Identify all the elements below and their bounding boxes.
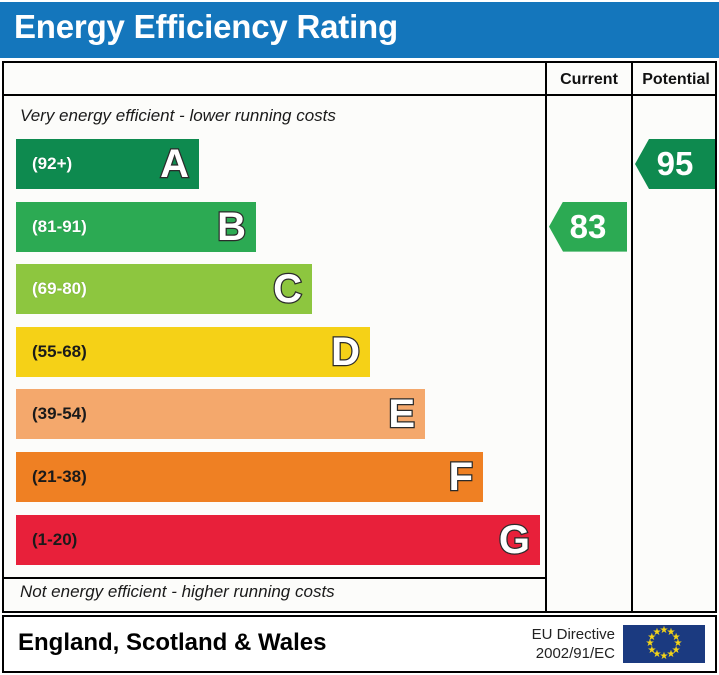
band-range-c: (69-80)	[32, 279, 87, 299]
band-bars-container: (92+)A(81-91)B(69-80)C(55-68)D(39-54)E(2…	[4, 63, 545, 611]
potential-rating-badge: 95	[635, 139, 715, 189]
column-divider-current	[545, 63, 547, 611]
eu-flag-icon: ★★★★★★★★★★★★	[623, 625, 705, 663]
column-divider-potential	[631, 63, 633, 611]
band-range-e: (39-54)	[32, 404, 87, 424]
band-range-b: (81-91)	[32, 217, 87, 237]
band-bar-d: (55-68)D	[16, 327, 370, 377]
footer-region-label: England, Scotland & Wales	[18, 629, 326, 657]
band-letter-c: C	[273, 269, 302, 309]
band-letter-f: F	[449, 457, 473, 497]
band-range-f: (21-38)	[32, 467, 87, 487]
band-range-a: (92+)	[32, 154, 72, 174]
band-letter-a: A	[160, 144, 189, 184]
band-bar-a: (92+)A	[16, 139, 199, 189]
rating-table: Current Potential Very energy efficient …	[2, 61, 717, 613]
eu-flag-star: ★	[652, 628, 662, 638]
band-letter-d: D	[331, 332, 360, 372]
footer-bar: England, Scotland & Wales EU Directive 2…	[2, 615, 717, 673]
band-range-d: (55-68)	[32, 342, 87, 362]
chart-header-bar: Energy Efficiency Rating	[0, 2, 719, 58]
current-rating-badge: 83	[549, 202, 627, 252]
column-header-current: Current	[547, 69, 631, 91]
column-header-potential: Potential	[633, 69, 719, 91]
eu-directive-line1: EU Directive	[465, 625, 615, 644]
band-bar-f: (21-38)F	[16, 452, 483, 502]
band-letter-e: E	[388, 394, 415, 434]
eu-directive-line2: 2002/91/EC	[465, 644, 615, 663]
energy-efficiency-certificate: Energy Efficiency Rating Current Potenti…	[0, 0, 719, 675]
band-bar-g: (1-20)G	[16, 515, 540, 565]
band-letter-b: B	[217, 207, 246, 247]
band-bar-e: (39-54)E	[16, 389, 425, 439]
eu-directive-label: EU Directive 2002/91/EC	[465, 625, 615, 663]
page-title: Energy Efficiency Rating	[14, 8, 398, 46]
band-range-g: (1-20)	[32, 530, 77, 550]
band-bar-c: (69-80)C	[16, 264, 312, 314]
band-letter-g: G	[499, 520, 530, 560]
band-bar-b: (81-91)B	[16, 202, 256, 252]
